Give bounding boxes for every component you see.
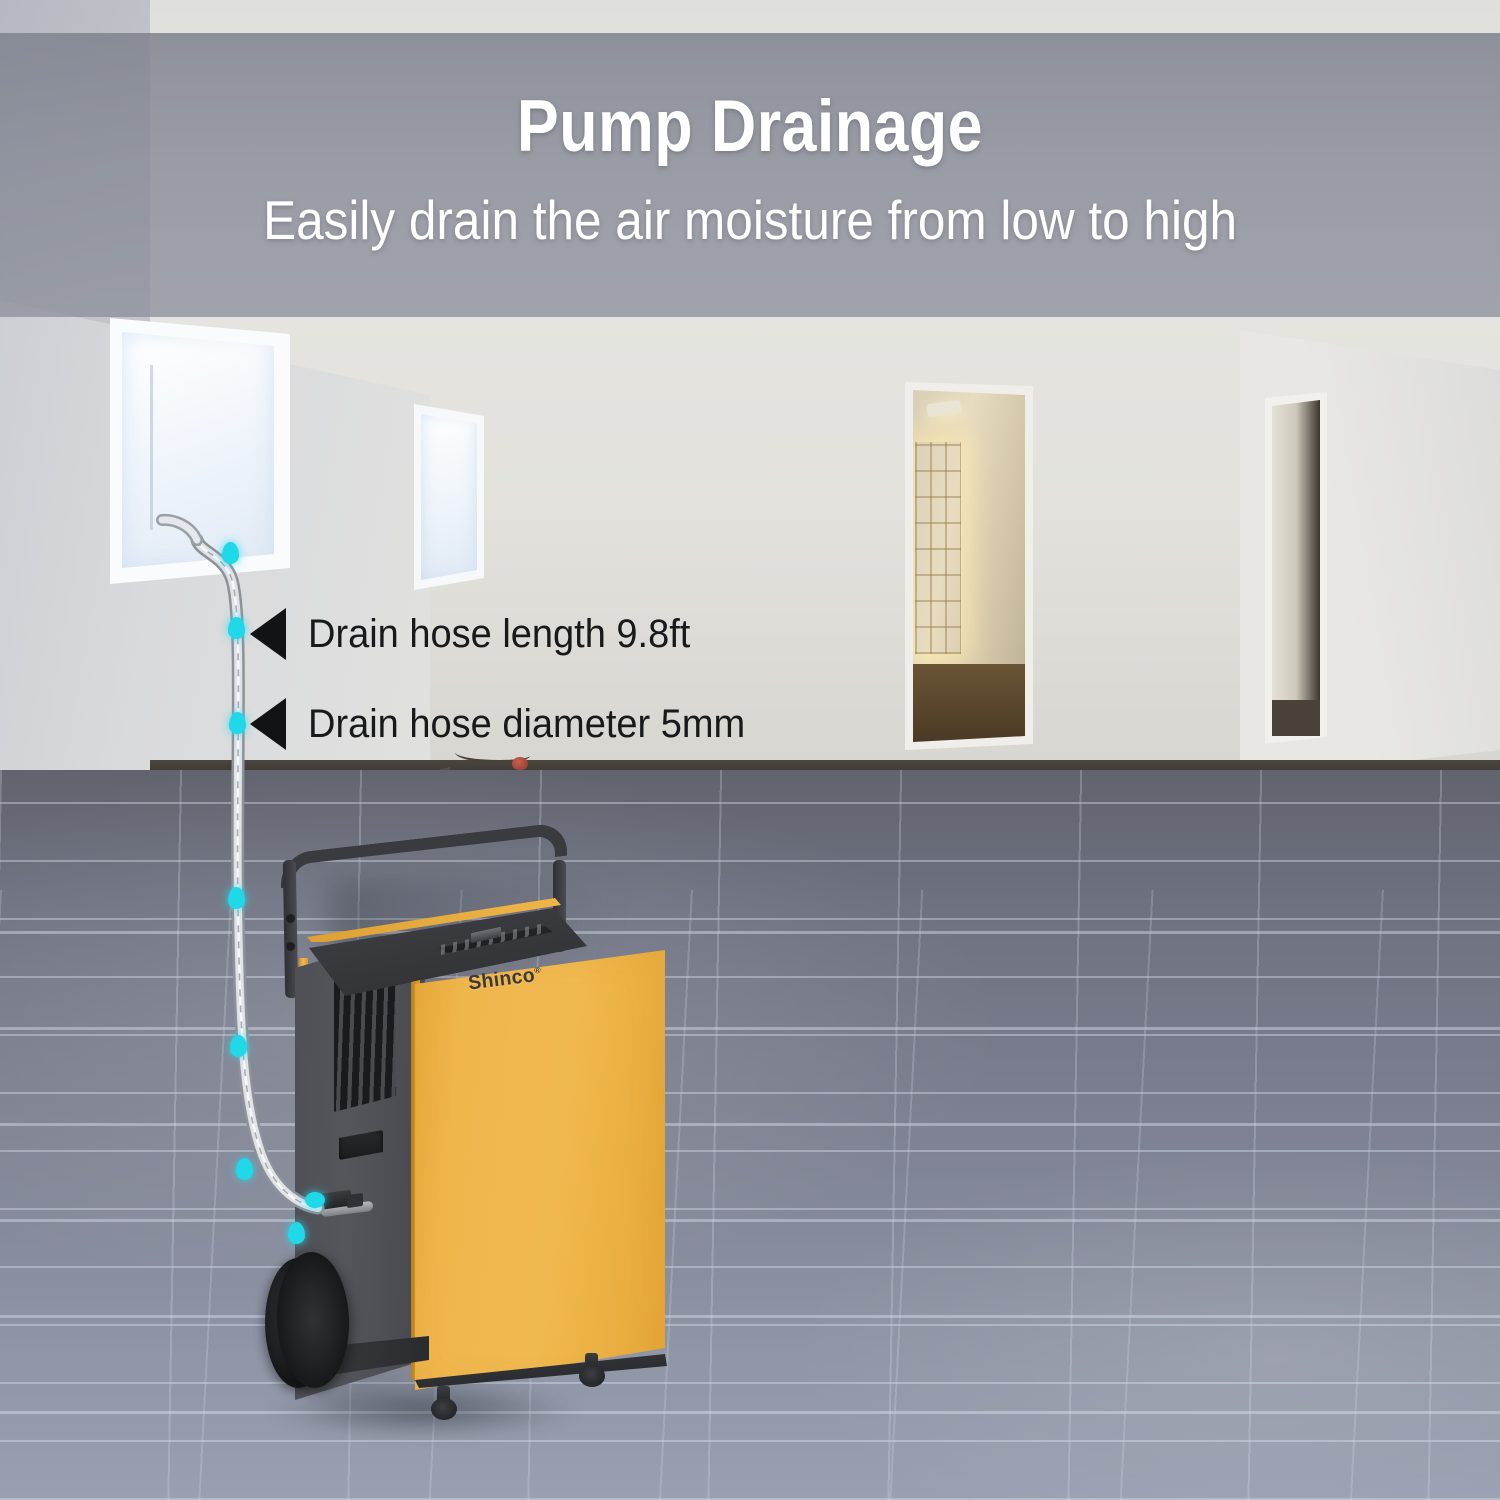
handle-bolt <box>286 942 295 951</box>
hallway-interior <box>913 390 1025 742</box>
hallway-floor <box>913 664 1025 742</box>
window-glass-second <box>421 414 477 580</box>
front-caster <box>431 1386 457 1420</box>
product-feature-image: Shinco® <box>0 0 1500 1500</box>
callout-item: Drain hose diameter 5mm <box>250 698 768 750</box>
right-doorway-interior <box>1272 400 1320 736</box>
left-triangle-icon <box>250 698 286 750</box>
handle-bolt <box>286 914 295 923</box>
callout-label: Drain hose diameter 5mm <box>308 702 745 747</box>
ceiling-lamp <box>926 400 961 418</box>
trademark-symbol: ® <box>534 965 542 976</box>
hose-marker-droplet <box>230 1035 247 1057</box>
glass-block-window <box>915 442 961 654</box>
window-glass-left <box>122 332 274 568</box>
caster-wheel <box>431 1398 457 1420</box>
front-caster <box>579 1353 605 1387</box>
hose-marker-droplet <box>222 542 239 564</box>
header-banner: Pump Drainage Easily drain the air moist… <box>0 33 1500 317</box>
callout-label: Drain hose length 9.8ft <box>308 612 690 657</box>
window-mullion <box>150 365 153 530</box>
hose-marker-droplet <box>305 1192 325 1208</box>
hose-marker-droplet <box>228 887 245 909</box>
page-title: Pump Drainage <box>517 85 983 168</box>
page-subtitle: Easily drain the air moisture from low t… <box>263 188 1237 252</box>
left-triangle-icon <box>250 608 286 660</box>
callout-item: Drain hose length 9.8ft <box>250 608 768 660</box>
hose-marker-droplet <box>228 617 245 639</box>
front-panel <box>415 950 665 1390</box>
hose-marker-droplet <box>288 1222 305 1244</box>
dehumidifier-unit[interactable]: Shinco® <box>255 838 675 1448</box>
caster-wheel <box>579 1365 605 1387</box>
drain-port-nut <box>347 1193 363 1208</box>
right-doorway-floor <box>1272 700 1320 736</box>
callout-list: Drain hose length 9.8ft Drain hose diame… <box>250 608 768 788</box>
hose-marker-droplet <box>236 1158 253 1180</box>
floor-reflection <box>0 770 1500 1500</box>
hose-marker-droplet <box>229 712 246 734</box>
